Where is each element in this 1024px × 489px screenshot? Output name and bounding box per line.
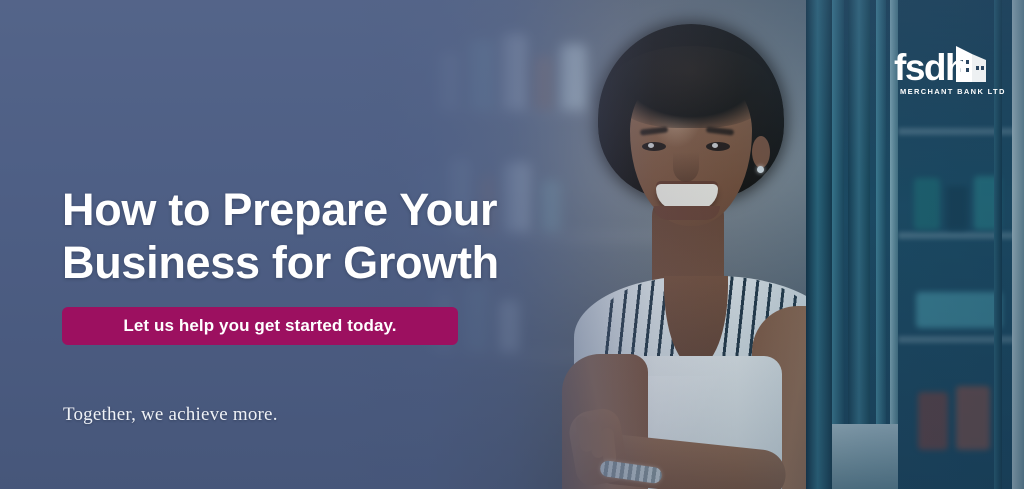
get-started-button-label: Let us help you get started today. [123,316,396,336]
headline-line-2: Business for Growth [62,236,602,289]
headline-line-1: How to Prepare Your [62,183,602,236]
fsdh-logo-mark: fsdh [894,46,998,86]
page-title: How to Prepare Your Business for Growth [62,183,602,289]
get-started-button[interactable]: Let us help you get started today. [62,307,458,345]
fsdh-wordmark: fsdh [894,49,966,86]
fsdh-logo[interactable]: fsdh MERCHANT BANK LTD [894,46,998,102]
banner-content: How to Prepare Your Business for Growth … [62,0,682,489]
tagline: Together, we achieve more. [63,404,278,426]
fsdh-logo-subtitle: MERCHANT BANK LTD [900,87,1006,96]
promo-banner: How to Prepare Your Business for Growth … [0,0,1024,489]
